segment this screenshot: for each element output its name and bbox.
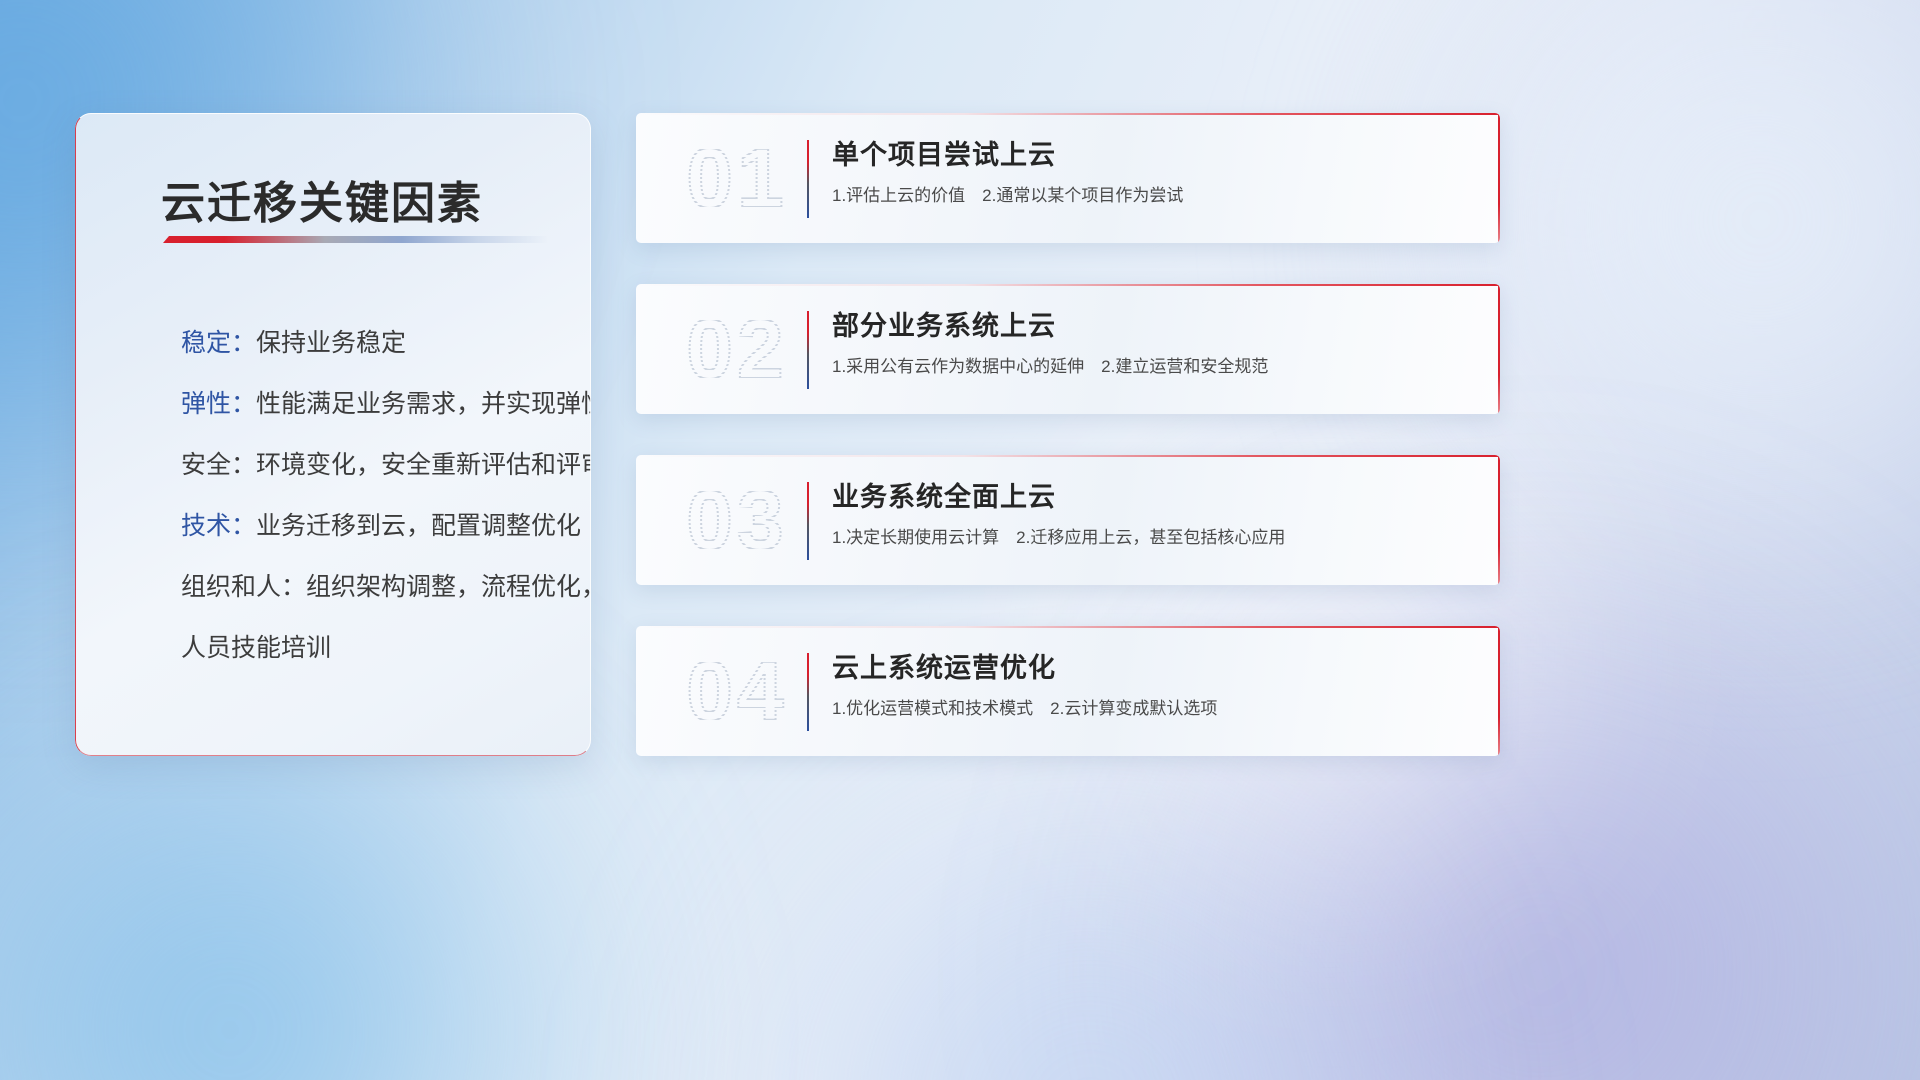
list-item: 组织和人：组织架构调整，流程优化， bbox=[107, 557, 571, 618]
stage-number: 03 bbox=[662, 463, 812, 577]
factor-desc: 环境变化，安全重新评估和评审 bbox=[256, 451, 591, 479]
stage-body: 业务系统全面上云 1.决定长期使用云计算 2.迁移应用上云，甚至包括核心应用 bbox=[832, 477, 1460, 553]
stage-card[interactable]: 01 单个项目尝试上云 1.评估上云的价值 2.通常以某个项目作为尝试 bbox=[636, 113, 1500, 243]
factor-label: 安全： bbox=[181, 451, 256, 479]
list-item: 弹性：性能满足业务需求，并实现弹性 bbox=[107, 374, 571, 435]
factor-label: 弹性： bbox=[181, 390, 256, 418]
stage-description: 1.采用公有云作为数据中心的延伸 2.建立运营和安全规范 bbox=[832, 352, 1460, 382]
stage-title: 云上系统运营优化 bbox=[832, 648, 1460, 688]
factor-desc: 性能满足业务需求，并实现弹性 bbox=[256, 390, 591, 418]
page-title: 云迁移关键因素 bbox=[161, 167, 483, 231]
stage-title: 部分业务系统上云 bbox=[832, 306, 1460, 346]
stage-body: 单个项目尝试上云 1.评估上云的价值 2.通常以某个项目作为尝试 bbox=[832, 135, 1460, 211]
list-item: 人员技能培训 bbox=[107, 618, 571, 679]
factor-label: 稳定： bbox=[181, 329, 256, 357]
factor-desc: 人员技能培训 bbox=[181, 634, 331, 662]
factor-label: 技术： bbox=[181, 512, 256, 540]
stage-title: 单个项目尝试上云 bbox=[832, 135, 1460, 175]
factor-desc: 组织架构调整，流程优化， bbox=[306, 573, 591, 601]
stage-divider-rule bbox=[807, 311, 809, 389]
factor-desc: 业务迁移到云，配置调整优化 bbox=[256, 512, 581, 540]
key-factors-panel: 云迁移关键因素 稳定：保持业务稳定 弹性：性能满足业务需求，并实现弹性 安全：环… bbox=[75, 113, 591, 756]
list-item: 稳定：保持业务稳定 bbox=[107, 313, 571, 374]
stage-title: 业务系统全面上云 bbox=[832, 477, 1460, 517]
stage-card[interactable]: 03 业务系统全面上云 1.决定长期使用云计算 2.迁移应用上云，甚至包括核心应… bbox=[636, 455, 1500, 585]
stage-body: 部分业务系统上云 1.采用公有云作为数据中心的延伸 2.建立运营和安全规范 bbox=[832, 306, 1460, 382]
stage-body: 云上系统运营优化 1.优化运营模式和技术模式 2.云计算变成默认选项 bbox=[832, 648, 1460, 724]
list-item: 技术：业务迁移到云，配置调整优化 bbox=[107, 496, 571, 557]
stage-number: 02 bbox=[662, 292, 812, 406]
title-underline-rule bbox=[163, 236, 548, 243]
stage-divider-rule bbox=[807, 482, 809, 560]
stage-card[interactable]: 04 云上系统运营优化 1.优化运营模式和技术模式 2.云计算变成默认选项 bbox=[636, 626, 1500, 756]
factors-list: 稳定：保持业务稳定 弹性：性能满足业务需求，并实现弹性 安全：环境变化，安全重新… bbox=[107, 313, 571, 679]
factor-label: 组织和人： bbox=[181, 573, 306, 601]
stage-description: 1.决定长期使用云计算 2.迁移应用上云，甚至包括核心应用 bbox=[832, 523, 1460, 553]
stage-description: 1.优化运营模式和技术模式 2.云计算变成默认选项 bbox=[832, 694, 1460, 724]
stage-card[interactable]: 02 部分业务系统上云 1.采用公有云作为数据中心的延伸 2.建立运营和安全规范 bbox=[636, 284, 1500, 414]
stage-number: 01 bbox=[662, 121, 812, 235]
stages-card-list: 01 单个项目尝试上云 1.评估上云的价值 2.通常以某个项目作为尝试 02 部… bbox=[636, 113, 1500, 797]
stage-divider-rule bbox=[807, 140, 809, 218]
stage-number: 04 bbox=[662, 634, 812, 748]
stage-divider-rule bbox=[807, 653, 809, 731]
factor-desc: 保持业务稳定 bbox=[256, 329, 406, 357]
list-item: 安全：环境变化，安全重新评估和评审 bbox=[107, 435, 571, 496]
stage-description: 1.评估上云的价值 2.通常以某个项目作为尝试 bbox=[832, 181, 1460, 211]
